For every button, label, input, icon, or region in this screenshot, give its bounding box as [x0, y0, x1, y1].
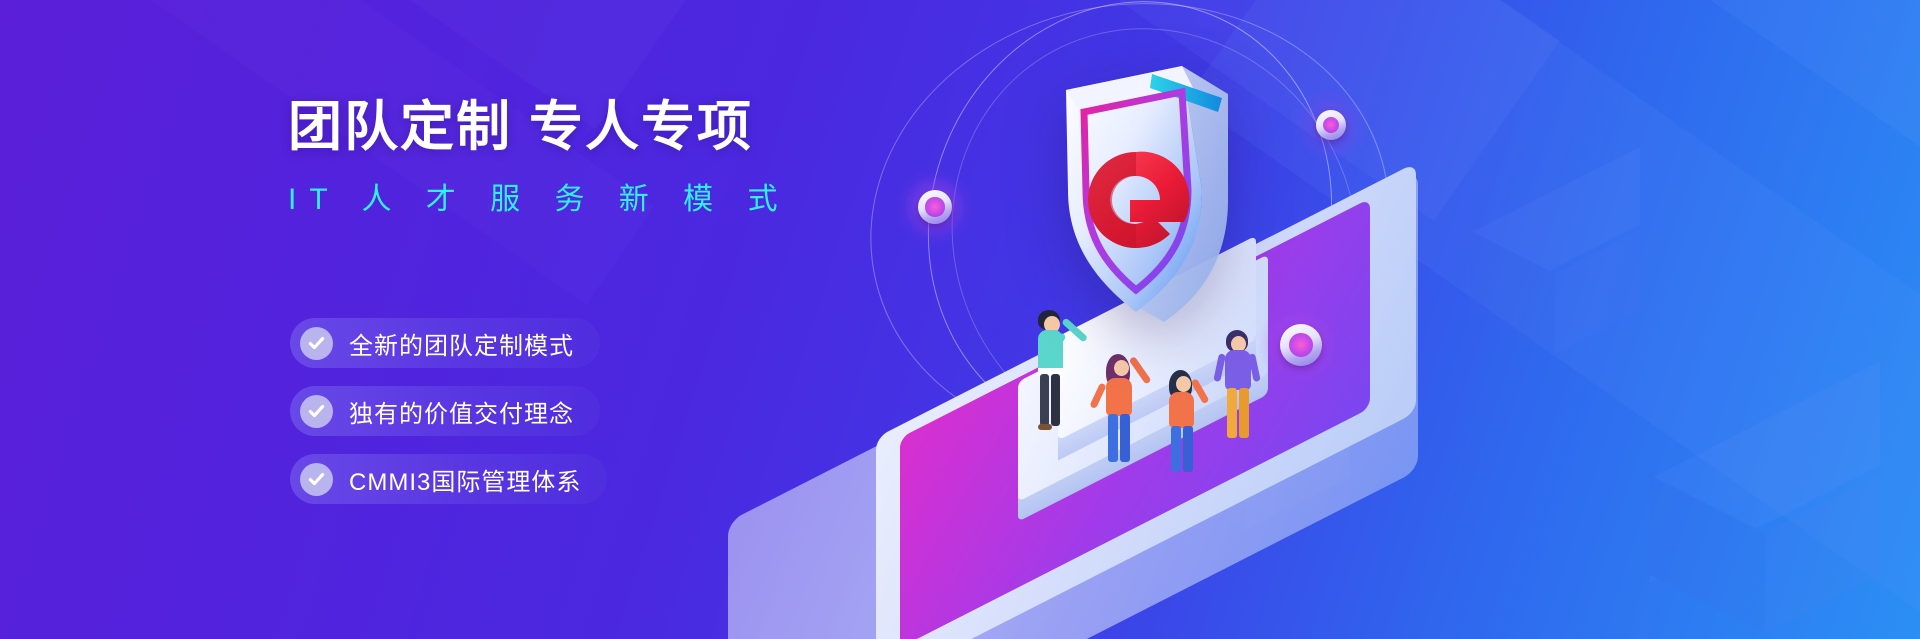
feature-pill-3[interactable]: CMMI3国际管理体系: [290, 454, 607, 504]
feature-pill-label: CMMI3国际管理体系: [349, 462, 581, 497]
shield-icon: [1032, 50, 1282, 340]
person-figure: [1162, 368, 1206, 478]
person-figure: [1098, 352, 1144, 470]
feature-list: 全新的团队定制模式 独有的价值交付理念 CMMI3国际管理体系: [290, 318, 607, 522]
glow-node-icon: [1280, 324, 1322, 366]
headline-block: 团队定制 专人专项 IT 人 才 服 务 新 模 式: [288, 96, 928, 218]
check-icon: [300, 463, 333, 496]
page-title: 团队定制 专人专项: [288, 96, 928, 160]
feature-pill-label: 全新的团队定制模式: [349, 326, 574, 361]
check-icon: [300, 327, 333, 360]
check-icon: [300, 395, 333, 428]
feature-pill-label: 独有的价值交付理念: [349, 394, 574, 429]
glow-node-icon: [1316, 110, 1346, 140]
feature-pill-1[interactable]: 全新的团队定制模式: [290, 318, 600, 368]
feature-pill-2[interactable]: 独有的价值交付理念: [290, 386, 600, 436]
hero-banner: 团队定制 专人专项 IT 人 才 服 务 新 模 式 全新的团队定制模式 独有的…: [0, 0, 1920, 639]
person-figure: [1218, 330, 1262, 448]
page-subtitle: IT 人 才 服 务 新 模 式: [288, 174, 928, 218]
